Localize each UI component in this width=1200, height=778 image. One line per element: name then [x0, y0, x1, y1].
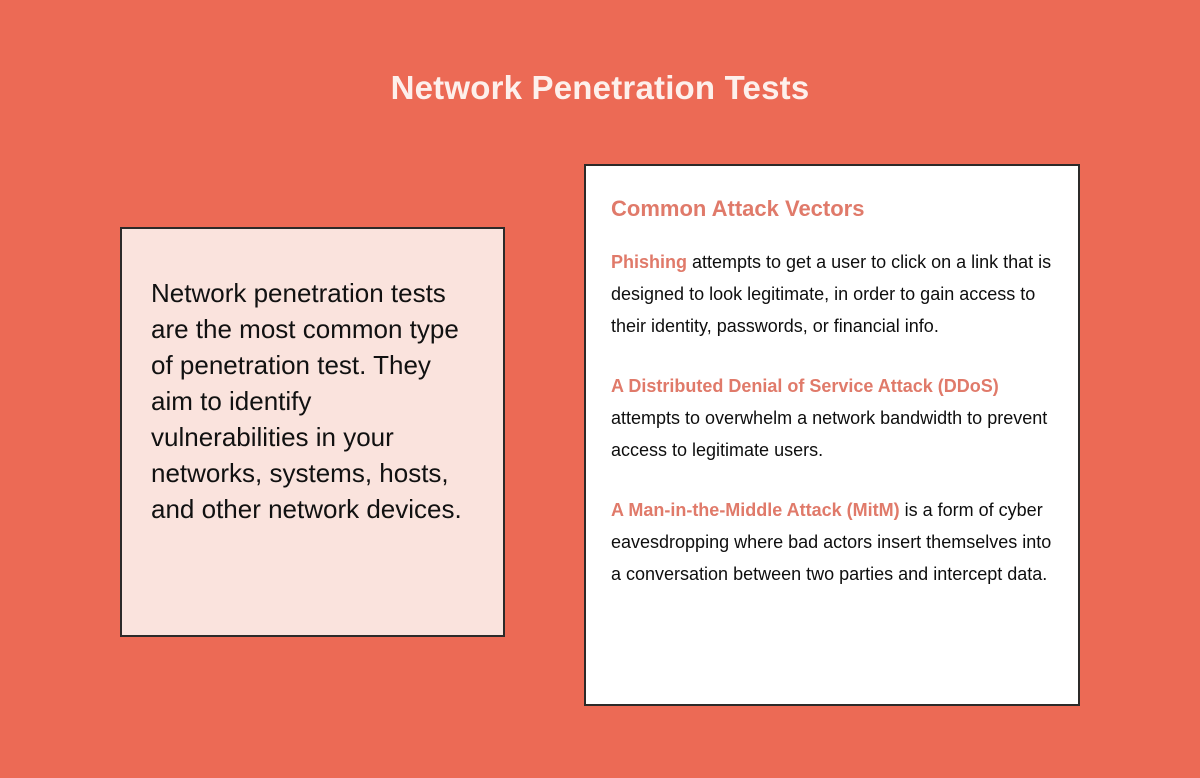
attack-vector-item: A Distributed Denial of Service Attack (…: [611, 370, 1053, 466]
page-title: Network Penetration Tests: [0, 66, 1200, 110]
definition-card: Network penetration tests are the most c…: [120, 227, 505, 637]
attack-vectors-heading: Common Attack Vectors: [611, 194, 1053, 224]
attack-vector-item: Phishing attempts to get a user to click…: [611, 246, 1053, 342]
attack-vector-item: A Man-in-the-Middle Attack (MitM) is a f…: [611, 494, 1053, 590]
attack-vector-term: A Man-in-the-Middle Attack (MitM): [611, 500, 900, 520]
definition-text: Network penetration tests are the most c…: [151, 275, 471, 527]
attack-vector-description: attempts to overwhelm a network bandwidt…: [611, 408, 1047, 460]
attack-vectors-card: Common Attack Vectors Phishing attempts …: [584, 164, 1080, 706]
attack-vectors-content: Common Attack Vectors Phishing attempts …: [611, 194, 1053, 590]
attack-vector-term: A Distributed Denial of Service Attack (…: [611, 376, 999, 396]
attack-vector-term: Phishing: [611, 252, 687, 272]
slide-root: Network Penetration Tests Network penetr…: [0, 0, 1200, 778]
